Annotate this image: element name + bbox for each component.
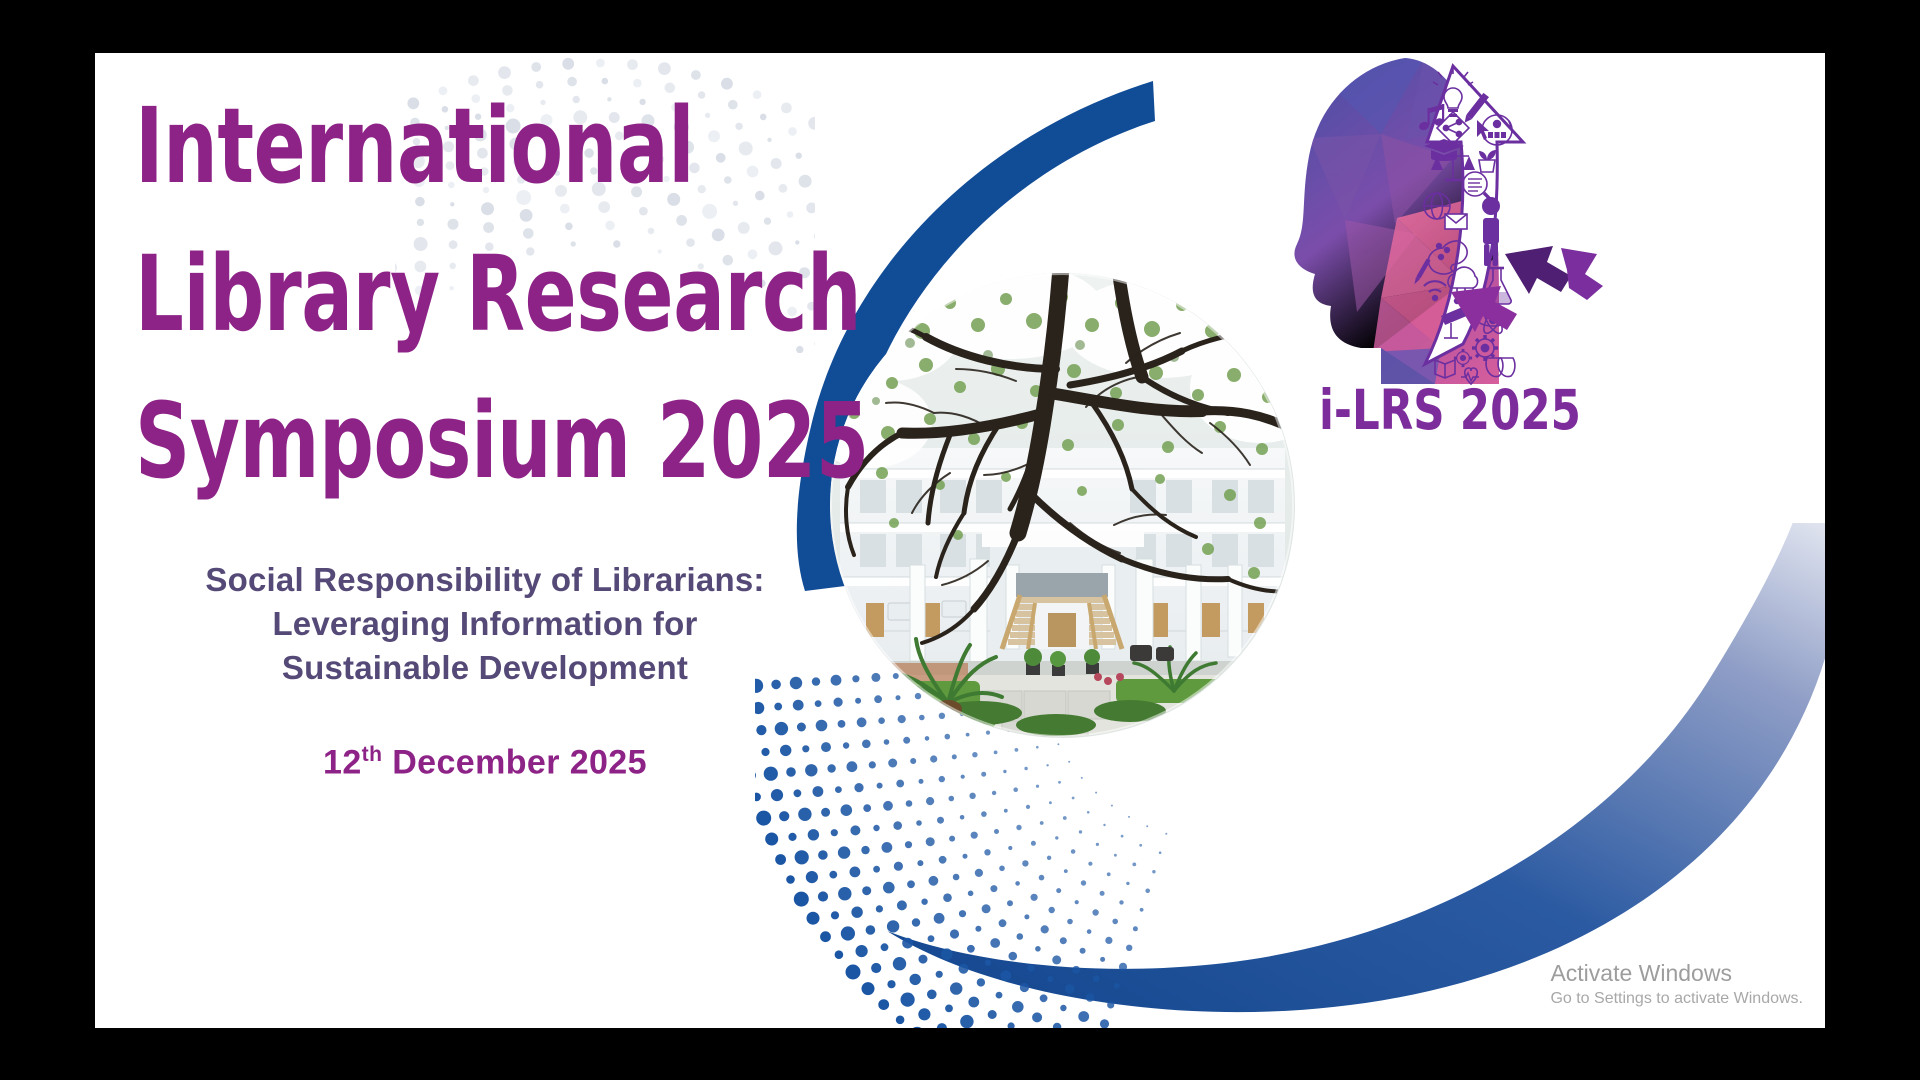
title-line-2: Library Research xyxy=(135,221,725,369)
title-line-1: International xyxy=(135,73,725,221)
title-line-3: Symposium 2025 xyxy=(135,368,725,516)
event-date: 12th December 2025 xyxy=(135,743,835,782)
presentation-slide: i-LRS 2025 International Library Researc… xyxy=(95,53,1825,1028)
campus-building-photo xyxy=(830,273,1295,738)
ilrs-logo xyxy=(1285,53,1615,408)
screen: i-LRS 2025 International Library Researc… xyxy=(0,0,1920,1080)
date-ordinal: th xyxy=(362,743,383,766)
subtitle-block: Social Responsibility of Librarians: Lev… xyxy=(135,558,835,690)
subtitle-line-2: Leveraging Information for xyxy=(135,602,835,646)
subtitle-line-3: Sustainable Development xyxy=(135,646,835,690)
subtitle-line-1: Social Responsibility of Librarians: xyxy=(135,558,835,602)
date-rest: December 2025 xyxy=(382,743,647,781)
logo-acronym: i-LRS 2025 xyxy=(1305,378,1595,442)
date-day: 12 xyxy=(323,743,362,781)
title-block: International Library Research Symposium… xyxy=(135,73,855,516)
accent-arrow-icon-1 xyxy=(1505,246,1571,294)
